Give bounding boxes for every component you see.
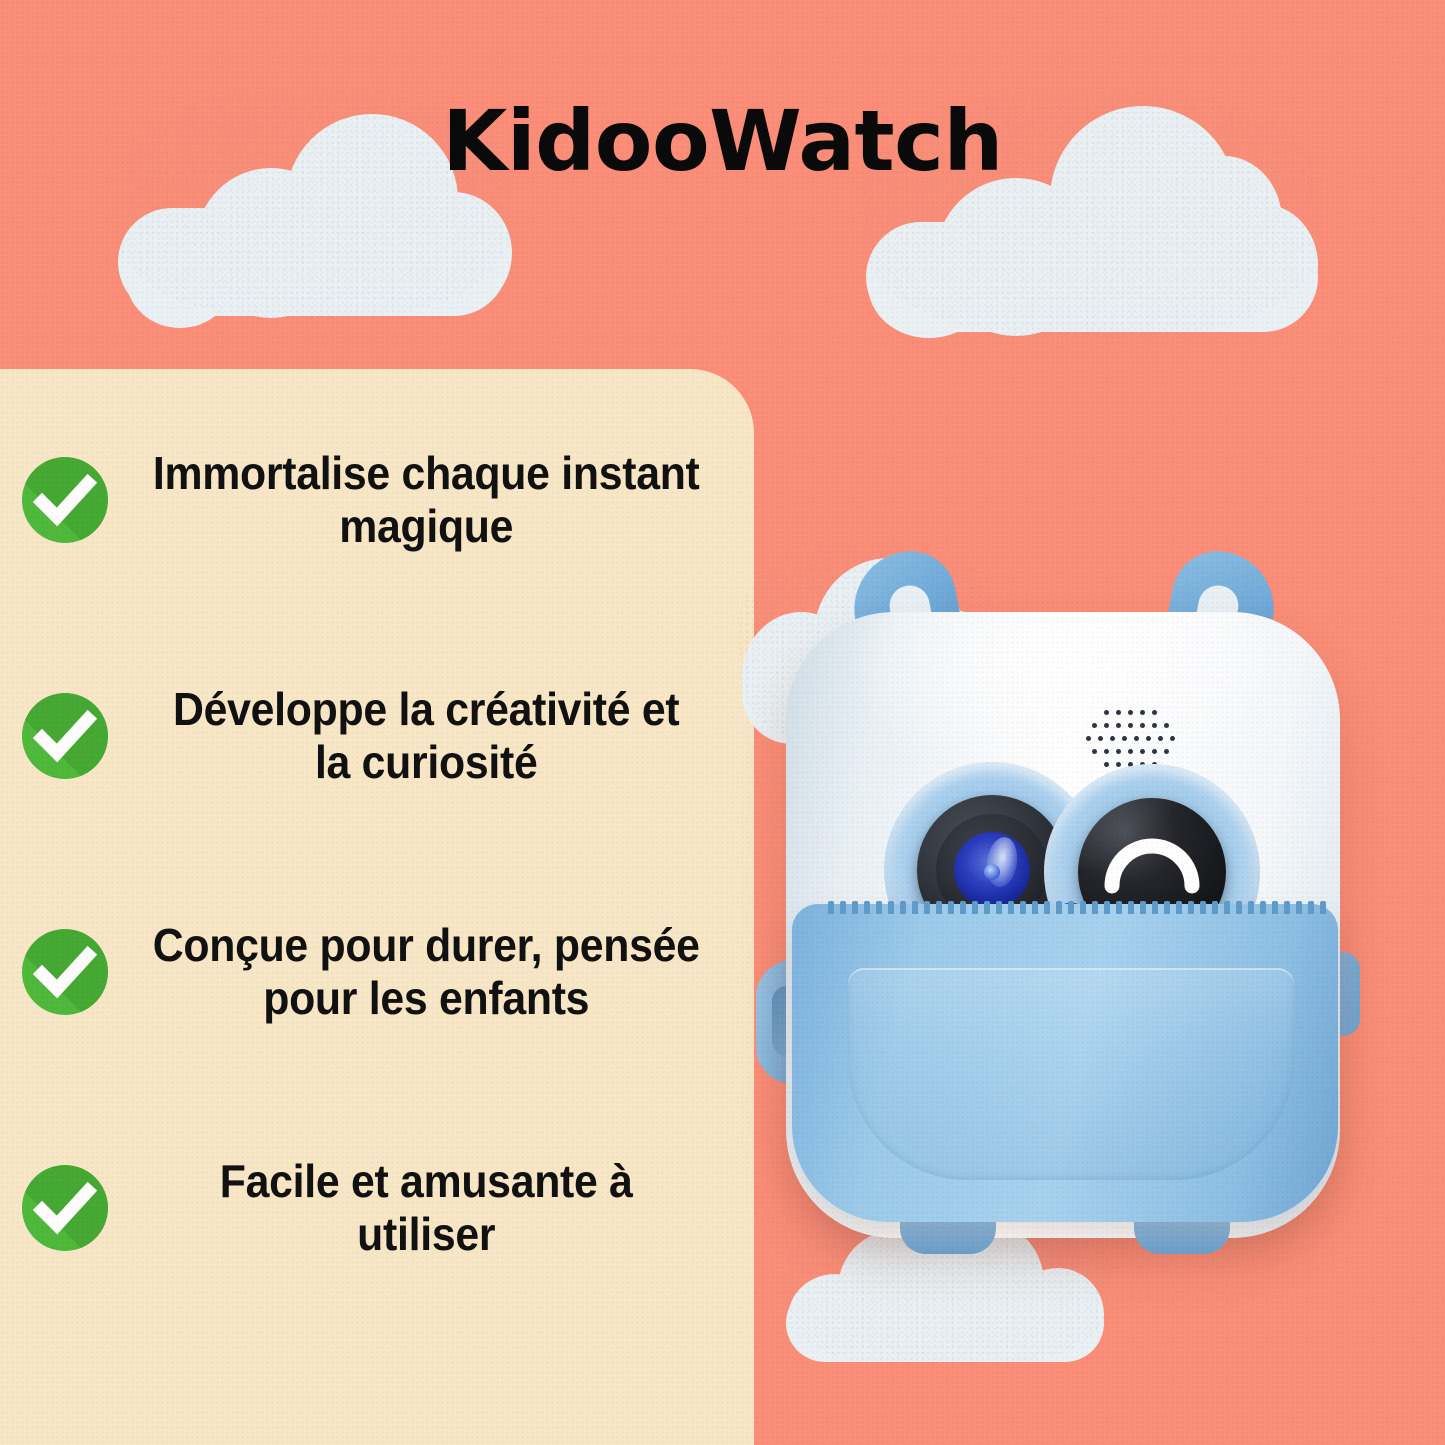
feature-card: Immortalise chaque instant magique Dével… [0, 369, 754, 1445]
feature-item: Immortalise chaque instant magique [22, 447, 728, 597]
check-circle-icon [22, 693, 108, 779]
foot-left [900, 1220, 996, 1254]
feature-list: Immortalise chaque instant magique Dével… [0, 369, 754, 1445]
check-circle-icon [22, 929, 108, 1015]
printer-door [792, 904, 1338, 1222]
speaker-grille-icon [1082, 708, 1174, 770]
feature-label: Facile et amusante à utiliser [151, 1155, 707, 1262]
check-circle-icon [22, 457, 108, 543]
feature-item: Développe la créativité et la curiosité [22, 683, 728, 833]
promo-poster: KidooWatch [0, 0, 1445, 1445]
foot-right [1134, 1220, 1230, 1254]
feature-label: Immortalise chaque instant magique [151, 447, 707, 554]
feature-label: Développe la créativité et la curiosité [151, 683, 707, 790]
paper-tear-strip [828, 898, 1328, 914]
feature-label: Conçue pour durer, pensée pour les enfan… [151, 919, 707, 1026]
product-image-kids-camera [778, 552, 1348, 1252]
page-title: KidooWatch [0, 92, 1445, 190]
feature-item: Conçue pour durer, pensée pour les enfan… [22, 919, 728, 1069]
feature-item: Facile et amusante à utiliser [22, 1155, 728, 1305]
check-circle-icon [22, 1165, 108, 1251]
